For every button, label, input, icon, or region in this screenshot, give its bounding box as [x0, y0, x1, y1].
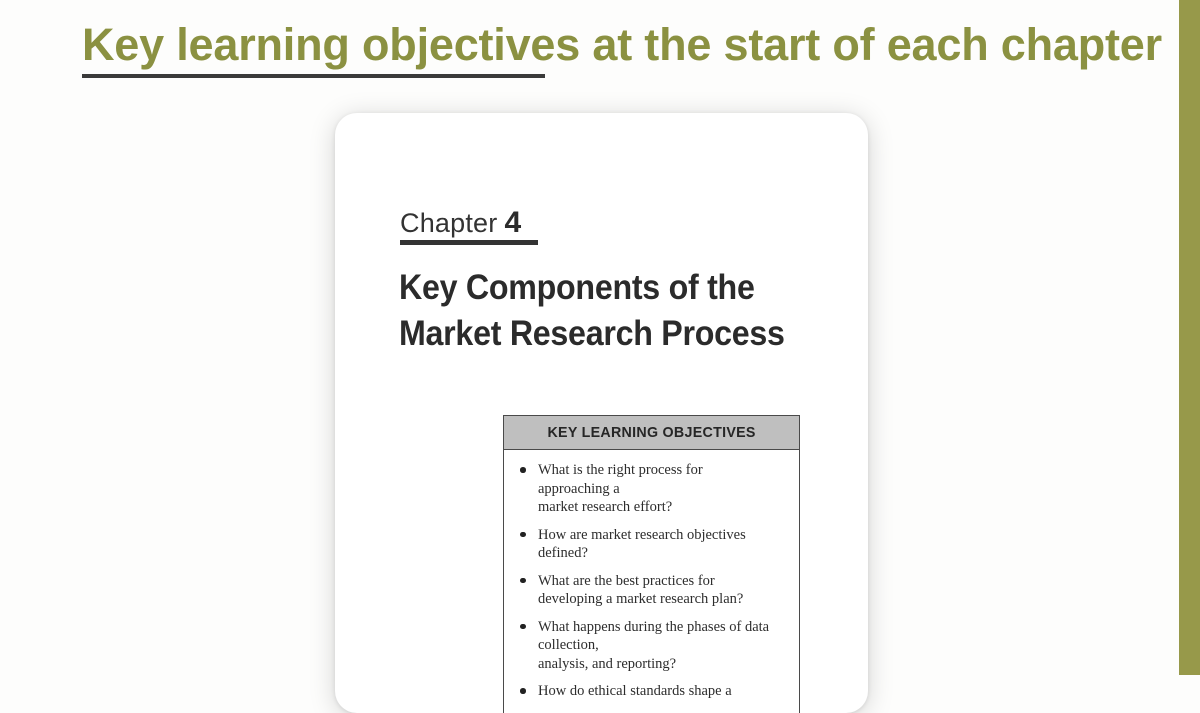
key-learning-objectives-box: KEY LEARNING OBJECTIVES What is the righ…	[503, 415, 800, 713]
chapter-label: Chapter	[400, 208, 497, 238]
objective-1-line-1: What is the right process for	[538, 461, 785, 480]
objective-5-line-1: How do ethical standards shape a	[538, 682, 785, 701]
chapter-title-line-1: Key Components of the	[399, 265, 785, 311]
chapter-title: Key Components of the Market Research Pr…	[399, 265, 785, 357]
book-page-content: Chapter4 Key Components of the Market Re…	[335, 113, 868, 713]
objective-2-line-2: defined?	[538, 544, 785, 563]
objective-1-line-2: approaching a	[538, 480, 785, 499]
heading-underline-rule	[82, 74, 545, 78]
list-item: What happens during the phases of data c…	[516, 618, 785, 674]
objective-1-line-3: market research effort?	[538, 498, 785, 517]
chapter-divider-rule	[400, 240, 538, 245]
list-item: What are the best practices for developi…	[516, 572, 785, 609]
bullet-icon	[520, 467, 526, 473]
objective-3-line-1: What are the best practices for	[538, 572, 785, 591]
chapter-eyebrow: Chapter4	[400, 206, 521, 240]
objectives-header-bar: KEY LEARNING OBJECTIVES	[504, 416, 799, 450]
list-item: What is the right process for approachin…	[516, 461, 785, 517]
chapter-title-line-2: Market Research Process	[399, 311, 785, 357]
objective-3-line-2: developing a market research plan?	[538, 590, 785, 609]
bullet-icon	[520, 578, 526, 584]
right-accent-bar	[1179, 0, 1200, 675]
objective-4-line-3: analysis, and reporting?	[538, 655, 785, 674]
bullet-icon	[520, 688, 526, 694]
slide-heading: Key learning objectives at the start of …	[82, 16, 1142, 74]
objectives-list: What is the right process for approachin…	[504, 450, 799, 713]
page-title: Key learning objectives at the start of …	[82, 16, 1142, 74]
bullet-icon	[520, 624, 526, 630]
chapter-number: 4	[504, 206, 521, 239]
list-item: How are market research objectives defin…	[516, 526, 785, 563]
objectives-header-label: KEY LEARNING OBJECTIVES	[547, 424, 755, 441]
bullet-icon	[520, 532, 526, 538]
list-item: How do ethical standards shape a	[516, 682, 785, 701]
objective-4-line-1: What happens during the phases of data	[538, 618, 785, 637]
objective-4-line-2: collection,	[538, 636, 785, 655]
book-page-card: Chapter4 Key Components of the Market Re…	[335, 113, 868, 713]
objective-2-line-1: How are market research objectives	[538, 526, 785, 545]
